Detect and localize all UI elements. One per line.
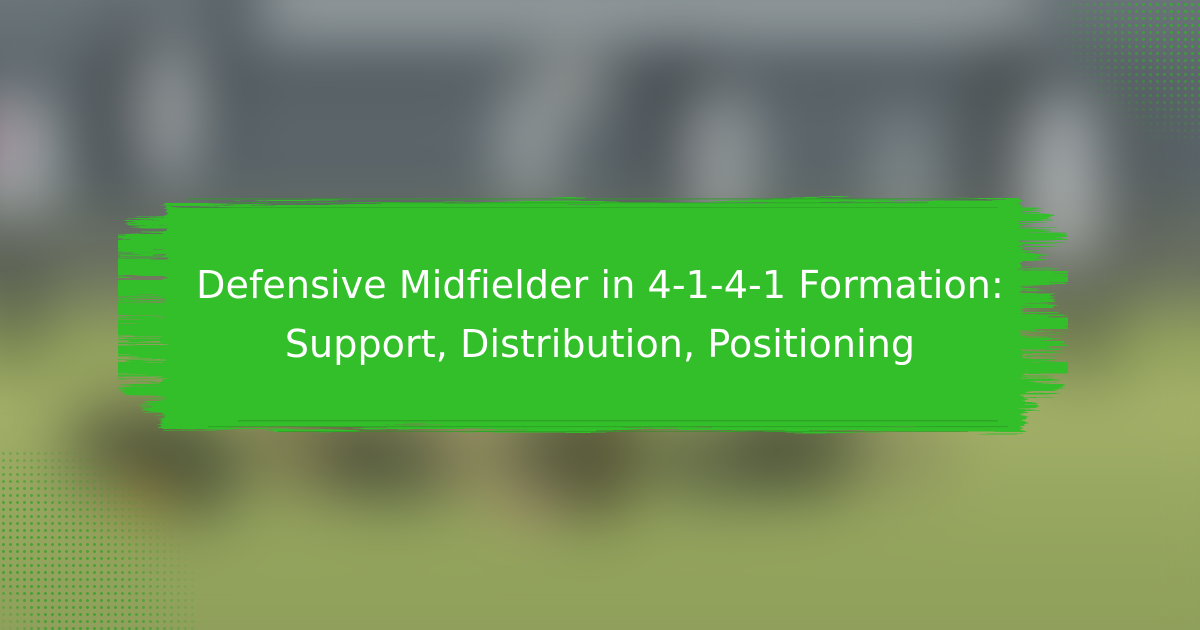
- banner-title: Defensive Midfielder in 4-1-4-1 Formatio…: [160, 188, 1040, 442]
- title-line-1: Defensive Midfielder in 4-1-4-1 Formatio…: [196, 256, 1004, 315]
- title-line-2: Support, Distribution, Positioning: [285, 315, 915, 374]
- banner-canvas: Defensive Midfielder in 4-1-4-1 Formatio…: [0, 0, 1200, 630]
